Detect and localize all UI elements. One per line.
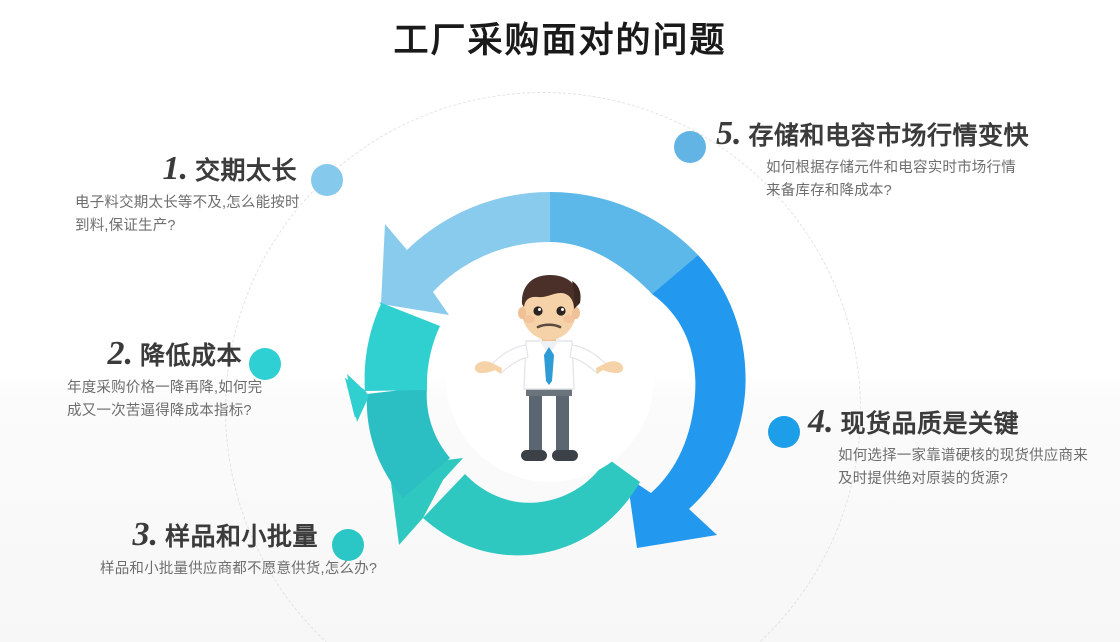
problem-1-headline: 1. 交期太长: [30, 152, 305, 186]
problem-2-heading: 降低成本: [140, 344, 242, 369]
problem-item-4: 4. 现货品质是关键 如何选择一家靠谱硬核的现货供应商来及时提供绝对原装的货源?: [808, 405, 1098, 492]
problem-3-headline: 3. 样品和小批量: [50, 518, 340, 552]
problem-item-5: 5. 存储和电容市场行情变快 如何根据存储元件和电容实时市场行情来备库存和降成本…: [716, 117, 1096, 204]
infographic-canvas: 工厂采购面对的问题: [0, 0, 1120, 642]
problem-4-headline: 4. 现货品质是关键: [808, 405, 1098, 439]
bullet-dot-4: [768, 416, 800, 448]
problem-4-description: 如何选择一家靠谱硬核的现货供应商来及时提供绝对原装的货源?: [808, 445, 1098, 492]
problem-5-description: 如何根据存储元件和电容实时市场行情来备库存和降成本?: [716, 157, 1026, 204]
problem-5-heading: 存储和电容市场行情变快: [749, 124, 1030, 149]
bullet-dot-5: [674, 131, 706, 163]
shrugging-businessman-illustration: [468, 269, 633, 469]
problem-3-description: 样品和小批量供应商都不愿意供货,怎么办?: [50, 558, 380, 581]
problem-5-number: 5.: [716, 117, 742, 151]
problem-item-2: 2. 降低成本 年度采购价格一降再降,如何完成又一次苦逼得降成本指标?: [22, 337, 272, 424]
page-title: 工厂采购面对的问题: [0, 12, 1120, 63]
bullet-dot-1: [311, 164, 343, 196]
problem-5-headline: 5. 存储和电容市场行情变快: [716, 117, 1096, 151]
problem-2-number: 2.: [107, 337, 133, 371]
problem-3-number: 3.: [132, 518, 158, 552]
problem-2-headline: 2. 降低成本: [22, 337, 272, 371]
problem-2-description: 年度采购价格一降再降,如何完成又一次苦逼得降成本指标?: [22, 377, 277, 424]
problem-3-heading: 样品和小批量: [165, 525, 318, 550]
problem-4-number: 4.: [808, 405, 834, 439]
problem-item-3: 3. 样品和小批量 样品和小批量供应商都不愿意供货,怎么办?: [50, 518, 340, 581]
problem-item-1: 1. 交期太长 电子料交期太长等不及,怎么能按时到料,保证生产?: [30, 152, 305, 239]
problem-4-heading: 现货品质是关键: [841, 412, 1020, 437]
problem-1-number: 1.: [162, 152, 188, 186]
problem-1-description: 电子料交期太长等不及,怎么能按时到料,保证生产?: [30, 192, 305, 239]
problem-1-heading: 交期太长: [195, 159, 297, 184]
